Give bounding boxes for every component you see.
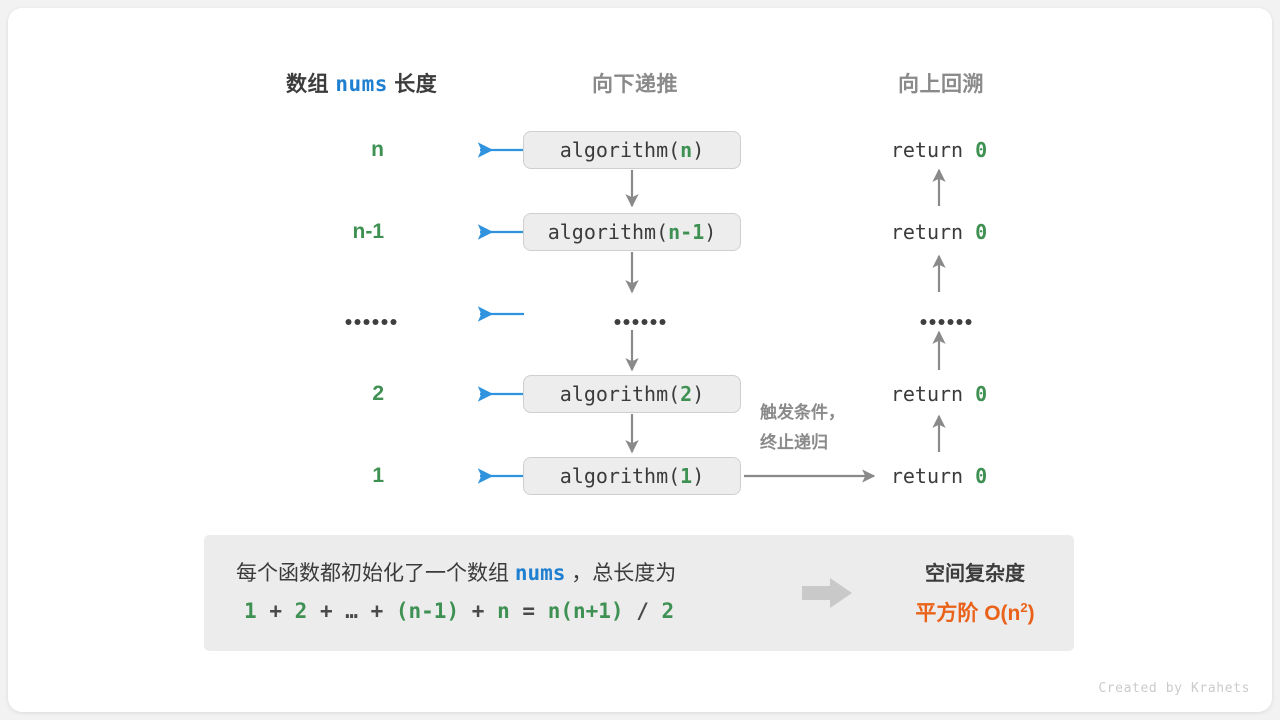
complexity-order-label: 平方阶 <box>915 602 978 625</box>
result-arrow-icon <box>802 577 852 609</box>
complexity-value: 平方阶 O(n2) <box>876 597 1074 627</box>
return-text-row-3: return <box>891 382 963 406</box>
complexity-notation: O(n <box>984 602 1020 625</box>
formula-term-5: n <box>497 599 510 623</box>
size-label-row-0: n <box>288 138 384 162</box>
call-box-row-3[interactable]: algorithm(2) <box>523 375 741 413</box>
call-prefix-row-0: algorithm( <box>560 138 680 162</box>
call-arg-row-0: n <box>680 138 692 162</box>
call-suffix-row-1: ) <box>704 220 716 244</box>
summary-sentence-prefix: 每个函数都初始化了一个数组 <box>236 562 509 585</box>
return-value-row-3: 0 <box>975 382 987 406</box>
call-suffix-row-0: ) <box>692 138 704 162</box>
call-arg-row-1: n-1 <box>668 220 704 244</box>
formula-op-4: + <box>472 599 485 623</box>
formula-op-3: + <box>371 599 384 623</box>
return-text-row-0: return <box>891 138 963 162</box>
formula-term-2: 2 <box>295 599 308 623</box>
diagram-canvas: 数组 nums 长度 向下递推 向上回溯 <box>8 8 1272 712</box>
call-prefix-row-1: algorithm( <box>548 220 668 244</box>
call-suffix-row-3: ) <box>692 382 704 406</box>
summary-sentence-keyword: nums <box>515 561 566 585</box>
complexity-title: 空间复杂度 <box>876 557 1074 586</box>
return-text-row-4: return <box>891 464 963 488</box>
ellipsis-call-row-2 <box>615 319 666 325</box>
complexity-exponent: 2 <box>1020 600 1027 615</box>
call-prefix-row-3: algorithm( <box>560 382 680 406</box>
formula-term-6: n(n+1) <box>548 599 624 623</box>
summary-sentence: 每个函数都初始化了一个数组 nums ，总长度为 <box>236 557 676 587</box>
termination-note-line2: 终止递归 <box>760 428 845 458</box>
call-box-row-0[interactable]: algorithm(n) <box>523 131 741 169</box>
call-box-row-4[interactable]: algorithm(1) <box>523 457 741 495</box>
return-label-row-1: return 0 <box>891 220 987 244</box>
call-box-row-1[interactable]: algorithm(n-1) <box>523 213 741 251</box>
size-label-row-4: 1 <box>288 464 384 488</box>
credit-footer: Created by Krahets <box>1098 681 1250 696</box>
call-suffix-row-4: ) <box>692 464 704 488</box>
formula-op-2: + <box>320 599 333 623</box>
ellipsis-size-row-2 <box>346 319 397 325</box>
summary-formula: 1 + 2 + … + (n-1) + n = n(n+1) / 2 <box>244 599 674 623</box>
ellipsis-return-row-2 <box>921 319 972 325</box>
return-label-row-4: return 0 <box>891 464 987 488</box>
summary-panel: 每个函数都初始化了一个数组 nums ，总长度为 1 + 2 + … + (n-… <box>204 535 1074 651</box>
formula-op-1: + <box>269 599 282 623</box>
return-value-row-1: 0 <box>975 220 987 244</box>
size-label-row-1: n-1 <box>288 220 384 244</box>
return-label-row-0: return 0 <box>891 138 987 162</box>
complexity-notation-close: ) <box>1028 602 1035 625</box>
formula-op-6: / <box>636 599 649 623</box>
return-label-row-3: return 0 <box>891 382 987 406</box>
call-arg-row-4: 1 <box>680 464 692 488</box>
termination-note-line1: 触发条件， <box>760 398 845 428</box>
return-value-row-0: 0 <box>975 138 987 162</box>
call-prefix-row-4: algorithm( <box>560 464 680 488</box>
size-label-row-3: 2 <box>288 382 384 406</box>
formula-term-1: 1 <box>244 599 257 623</box>
return-text-row-1: return <box>891 220 963 244</box>
formula-term-7: 2 <box>662 599 675 623</box>
formula-term-3: … <box>345 599 358 623</box>
formula-op-5: = <box>522 599 535 623</box>
formula-term-4: (n-1) <box>396 599 459 623</box>
summary-sentence-suffix: ，总长度为 <box>571 562 676 585</box>
call-arg-row-3: 2 <box>680 382 692 406</box>
return-value-row-4: 0 <box>975 464 987 488</box>
termination-note: 触发条件， 终止递归 <box>760 398 845 458</box>
